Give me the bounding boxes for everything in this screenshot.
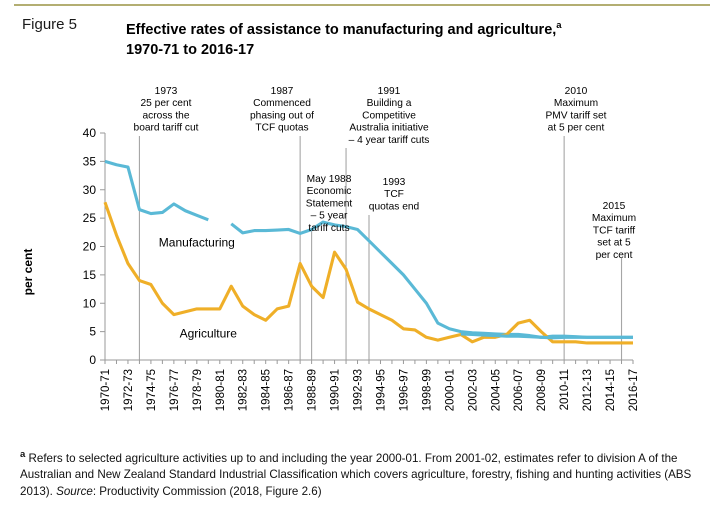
x-tick-label: 1972-73	[123, 369, 135, 411]
annotation-line-text: May 1988	[307, 174, 352, 185]
x-tick-label: 1982-83	[238, 369, 250, 411]
y-tick-label: 10	[83, 296, 97, 310]
x-tick-label: 1974-75	[146, 369, 158, 411]
annotation-line-text: – 5 year	[311, 211, 348, 222]
y-tick-label: 5	[89, 325, 96, 339]
annotation-line-text: Statement	[306, 198, 353, 209]
line-chart-svg: 0510152025303540per cent1970-711972-7319…	[0, 60, 724, 440]
annotation-line-text: 25 per cent	[141, 98, 192, 109]
annotation-text-1991: 1991Building aCompetitiveAustralia initi…	[349, 86, 430, 146]
x-tick-label: 1978-79	[192, 369, 204, 411]
annotation-line-text: quotas end	[369, 201, 420, 212]
annotation-line-text: set at 5	[597, 238, 631, 249]
annotation-line-text: TCF tariff	[593, 225, 635, 236]
chart-area: 0510152025303540per cent1970-711972-7319…	[0, 60, 724, 440]
x-tick-label: 1996-97	[398, 369, 410, 411]
annotation-text-may1988: May 1988EconomicStatement– 5 yeartariff …	[306, 174, 353, 234]
y-axis-title: per cent	[21, 249, 35, 296]
annotation-line-text: 1991	[378, 86, 401, 97]
annotation-line-text: 1987	[271, 86, 294, 97]
annotation-text-1973: 197325 per centacross theboard tariff cu…	[134, 86, 199, 134]
y-tick-label: 25	[83, 211, 97, 225]
x-tick-label: 2008-09	[536, 369, 548, 411]
series-label-manufacturing: Manufacturing	[159, 236, 235, 250]
x-tick-label: 1992-93	[353, 369, 365, 411]
annotation-text-1993: 1993TCFquotas end	[369, 177, 420, 212]
annotation-line-text: per cent	[596, 250, 633, 261]
header-rule	[14, 4, 710, 6]
figure-title-line2: 1970-71 to 2016-17	[126, 42, 254, 58]
y-tick-label: 20	[83, 240, 97, 254]
footnote-source-text: : Productivity Commission (2018, Figure …	[93, 485, 322, 498]
annotation-line-text: 1993	[383, 177, 406, 188]
figure-title-superscript: a	[556, 20, 561, 31]
annotation-line-text: PMV tariff set	[546, 110, 607, 121]
x-tick-label: 1994-95	[375, 369, 387, 411]
annotation-line-text: tariff cuts	[308, 223, 349, 234]
figure-number: Figure 5	[22, 16, 77, 33]
annotation-line-text: across the	[143, 110, 190, 121]
annotation-line-text: 1973	[155, 86, 178, 97]
y-tick-label: 30	[83, 183, 97, 197]
y-tick-label: 40	[83, 126, 97, 140]
annotation-line-text: 2015	[603, 201, 626, 212]
x-tick-label: 1976-77	[169, 369, 181, 411]
footnote-source-label: Source	[56, 485, 93, 498]
x-tick-label: 2004-05	[490, 369, 502, 411]
x-tick-label: 1970-71	[100, 369, 112, 411]
annotation-line-text: Competitive	[362, 110, 416, 121]
y-tick-label: 15	[83, 268, 97, 282]
figure-title: Effective rates of assistance to manufac…	[126, 16, 696, 60]
figure-page: Figure 5 Effective rates of assistance t…	[0, 0, 724, 521]
x-tick-label: 2006-07	[513, 369, 525, 411]
annotation-text-2010: 2010MaximumPMV tariff setat 5 per cent	[546, 86, 607, 134]
annotation-line-text: 2010	[565, 86, 588, 97]
annotation-line-text: TCF quotas	[255, 123, 308, 134]
x-tick-label: 2016-17	[628, 369, 640, 411]
annotation-line-text: at 5 per cent	[548, 123, 605, 134]
annotation-line-text: TCF	[384, 189, 404, 200]
x-tick-label: 1984-85	[261, 369, 273, 411]
x-tick-label: 1980-81	[215, 369, 227, 411]
annotation-text-2015: 2015MaximumTCF tariffset at 5per cent	[592, 201, 636, 261]
annotation-line-text: phasing out of	[250, 110, 314, 121]
series-label-agriculture: Agriculture	[180, 326, 238, 340]
y-tick-label: 0	[89, 353, 96, 367]
x-tick-label: 1988-89	[307, 369, 319, 411]
y-tick-label: 35	[83, 154, 97, 168]
annotation-line-text: Commenced	[253, 98, 311, 109]
annotation-line-text: Maximum	[592, 213, 636, 224]
annotation-line-text: Australia initiative	[349, 123, 429, 134]
x-tick-label: 2002-03	[467, 369, 479, 411]
figure-footnote: a Refers to selected agriculture activit…	[20, 447, 710, 500]
annotation-line-text: Maximum	[554, 98, 598, 109]
annotation-line-text: Building a	[367, 98, 412, 109]
figure-title-line1: Effective rates of assistance to manufac…	[126, 22, 556, 38]
x-tick-label: 1998-99	[421, 369, 433, 411]
annotation-text-1987: 1987Commencedphasing out ofTCF quotas	[250, 86, 314, 134]
x-tick-label: 2012-13	[582, 369, 594, 411]
annotation-line-text: board tariff cut	[134, 123, 199, 134]
annotation-line-text: Economic	[307, 186, 352, 197]
x-tick-label: 2010-11	[559, 369, 571, 410]
x-tick-label: 1986-87	[284, 369, 296, 411]
annotation-line-text: – 4 year tariff cuts	[349, 135, 430, 146]
x-tick-label: 2014-15	[605, 369, 617, 411]
x-tick-label: 2000-01	[444, 369, 456, 411]
x-tick-label: 1990-91	[330, 369, 342, 411]
